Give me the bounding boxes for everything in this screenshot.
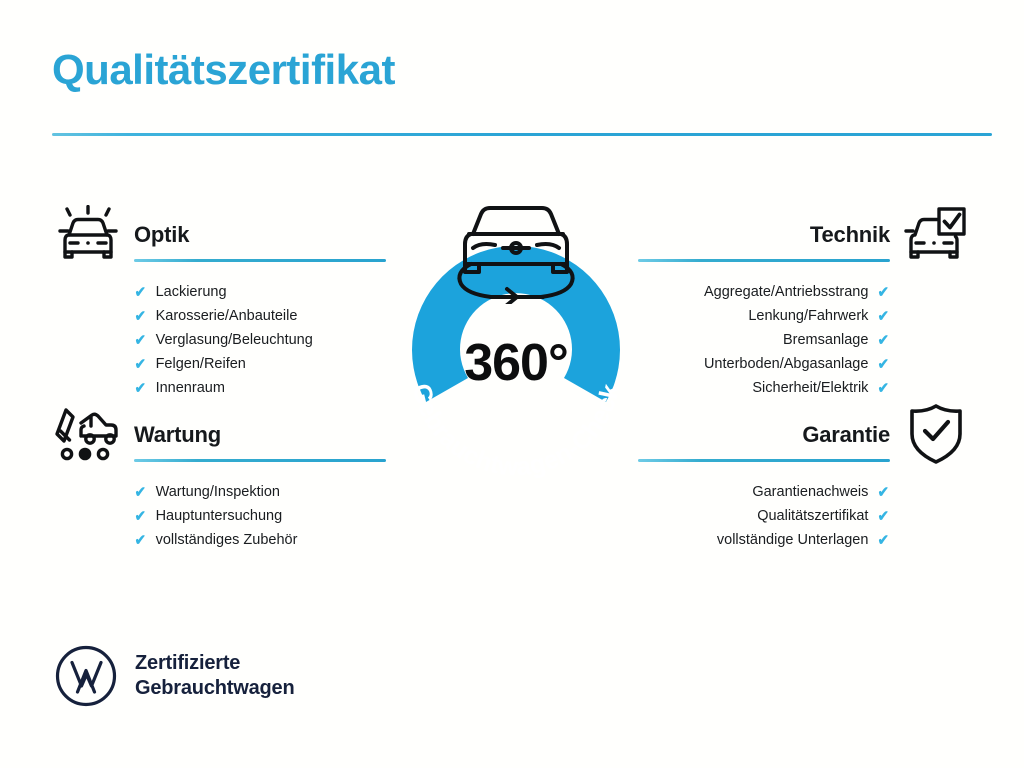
check-icon: ✔ (878, 485, 889, 500)
list-item-label: Qualitätszertifikat (757, 509, 868, 524)
car-shine-icon (48, 198, 128, 270)
footer-brand: Zertifizierte Gebrauchtwagen (55, 645, 294, 707)
section-divider (638, 259, 890, 262)
page-title: Qualitätszertifikat (52, 48, 395, 92)
car-rotate-360-icon (451, 198, 581, 304)
list-item-label: vollständige Unterlagen (717, 533, 869, 548)
footer-line-1: Zertifizierte (135, 651, 294, 676)
check-icon: ✔ (878, 285, 889, 300)
car-checkbox-icon (896, 198, 976, 270)
section-title: Optik (134, 222, 189, 248)
check-icon: ✔ (135, 333, 146, 348)
check-icon: ✔ (878, 533, 889, 548)
list-item-label: Felgen/Reifen (156, 357, 246, 372)
quality-certificate-page: Qualitätszertifikat Optik ✔Lackierung ✔K… (0, 0, 1024, 768)
list-item-label: Lenkung/Fahrwerk (748, 309, 868, 324)
check-icon: ✔ (878, 309, 889, 324)
list-item-label: Lackierung (156, 285, 227, 300)
section-title: Technik (810, 222, 890, 248)
check-icon: ✔ (135, 533, 146, 548)
360-check-badge: Gebrauchtwagen-Check 360° (374, 196, 658, 486)
section-divider (134, 259, 386, 262)
list-item-label: Karosserie/Anbauteile (156, 309, 298, 324)
list-item: vollständige Unterlagen✔ (576, 528, 890, 552)
list-item-label: Bremsanlage (783, 333, 868, 348)
check-icon: ✔ (878, 357, 889, 372)
section-title: Wartung (134, 422, 221, 448)
list-item-label: Hauptuntersuchung (156, 509, 283, 524)
list-item-label: Aggregate/Antriebsstrang (704, 285, 868, 300)
check-icon: ✔ (878, 333, 889, 348)
shield-check-icon (896, 398, 976, 470)
list-item-label: Unterboden/Abgasanlage (704, 357, 868, 372)
title-divider (52, 133, 992, 136)
badge-center-label: 360° (374, 333, 658, 393)
section-title: Garantie (802, 422, 890, 448)
list-item: ✔vollständiges Zubehör (134, 528, 448, 552)
vw-logo-icon (55, 645, 117, 707)
check-icon: ✔ (135, 381, 146, 396)
check-icon: ✔ (135, 309, 146, 324)
footer-text: Zertifizierte Gebrauchtwagen (135, 651, 294, 701)
check-icon: ✔ (135, 485, 146, 500)
check-icon: ✔ (135, 285, 146, 300)
list-item-label: Wartung/Inspektion (156, 485, 280, 500)
list-item-label: Sicherheit/Elektrik (752, 381, 868, 396)
list-item-label: vollständiges Zubehör (156, 533, 298, 548)
section-divider (134, 459, 386, 462)
check-icon: ✔ (135, 509, 146, 524)
pen-car-service-icon (48, 398, 128, 470)
checklist-wartung: ✔Wartung/Inspektion ✔Hauptuntersuchung ✔… (48, 480, 448, 552)
list-item: ✔Hauptuntersuchung (134, 504, 448, 528)
checklist-garantie: Garantienachweis✔ Qualitätszertifikat✔ v… (576, 480, 976, 552)
list-item: Qualitätszertifikat✔ (576, 504, 890, 528)
footer-line-2: Gebrauchtwagen (135, 676, 294, 701)
list-item-label: Garantienachweis (752, 485, 868, 500)
list-item-label: Verglasung/Beleuchtung (156, 333, 313, 348)
badge-curved-label: Gebrauchtwagen-Check (407, 381, 625, 482)
check-icon: ✔ (878, 509, 889, 524)
check-icon: ✔ (878, 381, 889, 396)
check-icon: ✔ (135, 357, 146, 372)
section-divider (638, 459, 890, 462)
list-item-label: Innenraum (156, 381, 225, 396)
